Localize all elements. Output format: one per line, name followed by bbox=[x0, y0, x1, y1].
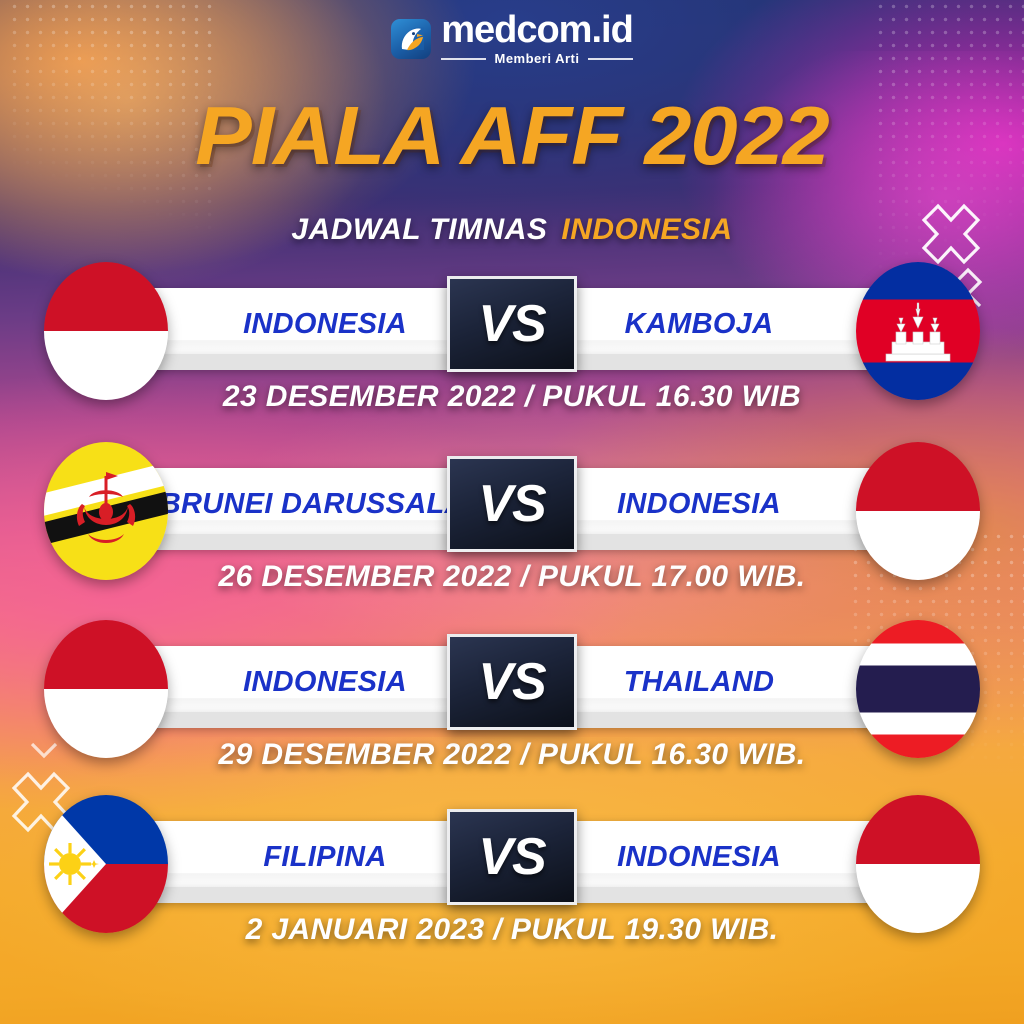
vs-label: VS bbox=[478, 827, 545, 887]
brand-tagline: Memberi Arti bbox=[495, 51, 580, 66]
match-row: INDONESIA VS THAILAND 29 DESEMBER 2022 /… bbox=[0, 620, 1024, 796]
match-datetime: 29 DESEMBER 2022 / PUKUL 16.30 WIB. bbox=[0, 738, 1024, 772]
subtitle-jadwal-timnas: JADWAL TIMNAS bbox=[291, 213, 547, 246]
indonesia-flag-icon bbox=[44, 620, 168, 758]
tagline-rule-left bbox=[441, 58, 485, 60]
match-row: INDONESIA VS KAMBOJA 23 DESEMBER 2022 / … bbox=[0, 262, 1024, 438]
vs-badge: VS bbox=[447, 809, 577, 905]
vs-badge: VS bbox=[447, 456, 577, 552]
thailand-flag-icon bbox=[856, 620, 980, 758]
philippines-flag-icon bbox=[44, 795, 168, 933]
cambodia-flag-icon bbox=[856, 262, 980, 400]
brand-name: medcom.id bbox=[441, 12, 633, 48]
match-row: BRUNEI DARUSSALAM VS INDONESIA 26 DESEMB… bbox=[0, 442, 1024, 618]
page-title: PIALA AFF 2022 bbox=[0, 97, 1024, 176]
brunei-flag-icon bbox=[44, 442, 168, 580]
page-subtitle: JADWAL TIMNASINDONESIA bbox=[0, 213, 1024, 247]
vs-label: VS bbox=[478, 294, 545, 354]
subtitle-indonesia: INDONESIA bbox=[561, 213, 732, 246]
tagline-rule-right bbox=[588, 58, 632, 60]
indonesia-flag-icon bbox=[44, 262, 168, 400]
vs-badge: VS bbox=[447, 634, 577, 730]
indonesia-flag-icon bbox=[856, 795, 980, 933]
brand-logo[interactable]: medcom.id Memberi Arti bbox=[0, 12, 1024, 66]
indonesia-flag-icon bbox=[856, 442, 980, 580]
vs-label: VS bbox=[478, 652, 545, 712]
vs-label: VS bbox=[478, 474, 545, 534]
vs-badge: VS bbox=[447, 276, 577, 372]
match-row: FILIPINA VS INDONESIA 2 JANUARI 2023 / P… bbox=[0, 795, 1024, 971]
poster-canvas: medcom.id Memberi Arti PIALA AFF 2022 JA… bbox=[0, 0, 1024, 1024]
medcom-eagle-icon bbox=[391, 19, 431, 59]
